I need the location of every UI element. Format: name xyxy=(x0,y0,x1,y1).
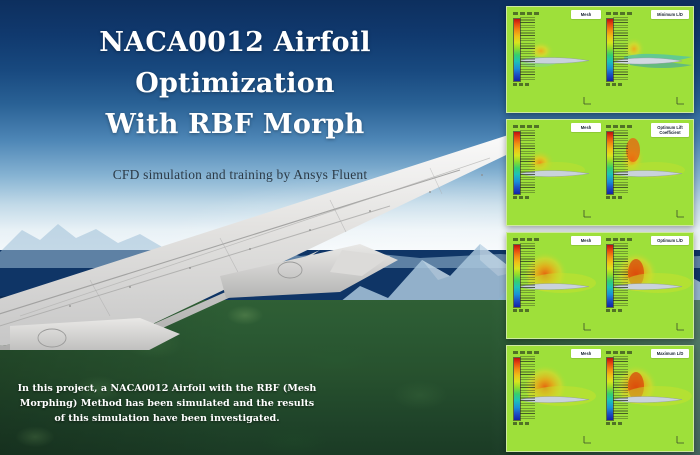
title-line-1: NACA0012 Airfoil xyxy=(0,22,470,63)
axes-triad-icon xyxy=(581,94,593,106)
colorbar-ticks xyxy=(613,356,628,420)
panel-title-line-1: Optimum Lift xyxy=(657,125,682,130)
panel-center-label: Mesh xyxy=(571,10,601,19)
colorbar-unit xyxy=(513,422,529,425)
description-caption: In this project, a NACA0012 Airfoil with… xyxy=(12,381,322,426)
panel-title-label: Minimum L/D xyxy=(651,10,689,19)
caption-line-1: In this project, a NACA0012 Airfoil with… xyxy=(12,381,322,396)
colorbar-title xyxy=(513,12,541,15)
panel-center-label: Mesh xyxy=(571,236,601,245)
colorbar-unit xyxy=(606,196,622,199)
axes-triad-icon xyxy=(674,433,686,445)
cfd-panel-2[interactable]: Mesh Optimum Lift Coefficient xyxy=(506,119,694,226)
cfd-plot-left xyxy=(507,233,600,338)
colorbar-unit xyxy=(513,309,529,312)
colorbar-ticks xyxy=(520,356,535,420)
colorbar-ticks xyxy=(613,130,628,194)
colorbar-title xyxy=(513,351,541,354)
cfd-plot-right xyxy=(600,233,693,338)
panel-title-line-1: Minimum L/D xyxy=(657,12,683,17)
cfd-panel-4[interactable]: Mesh Maximum L/D xyxy=(506,345,694,452)
caption-line-2: Morphing) Method has been simulated and … xyxy=(12,396,322,411)
colorbar-unit xyxy=(513,83,529,86)
colorbar-ticks xyxy=(613,17,628,81)
cfd-plot-left xyxy=(507,7,600,112)
caption-line-3: of this simulation have been investigate… xyxy=(12,411,322,426)
airplane-wing xyxy=(0,120,550,350)
panel-title-line-2: Coefficient xyxy=(653,130,687,135)
colorbar-title xyxy=(513,238,541,241)
colorbar-ticks xyxy=(520,130,535,194)
colorbar-title xyxy=(606,125,634,128)
panel-title-line-1: Maximum L/D xyxy=(657,351,684,356)
colorbar-ticks xyxy=(520,243,535,307)
poster-canvas: NACA0012 Airfoil Optimization With RBF M… xyxy=(0,0,700,455)
cfd-plot-right xyxy=(600,7,693,112)
colorbar-unit xyxy=(606,309,622,312)
title-line-3: With RBF Morph xyxy=(0,104,470,145)
panel-title-label: Optimum Lift Coefficient xyxy=(651,123,689,137)
axes-triad-icon xyxy=(674,207,686,219)
axes-triad-icon xyxy=(674,320,686,332)
cfd-plot-left xyxy=(507,120,600,225)
panel-title-label: Optimum L/D xyxy=(651,236,689,245)
axes-triad-icon xyxy=(581,433,593,445)
cfd-panel-3[interactable]: Mesh Optimum L/D xyxy=(506,232,694,339)
colorbar-unit xyxy=(606,422,622,425)
axes-triad-icon xyxy=(581,320,593,332)
colorbar-ticks xyxy=(520,17,535,81)
colorbar-title xyxy=(513,125,541,128)
panel-center-label: Mesh xyxy=(571,349,601,358)
page-title: NACA0012 Airfoil Optimization With RBF M… xyxy=(0,22,470,145)
title-line-2: Optimization xyxy=(0,63,470,104)
colorbar-unit xyxy=(513,196,529,199)
axes-triad-icon xyxy=(581,207,593,219)
colorbar-ticks xyxy=(613,243,628,307)
cfd-panel-1[interactable]: Mesh Minimum L/D xyxy=(506,6,694,113)
colorbar-unit xyxy=(606,83,622,86)
axes-triad-icon xyxy=(674,94,686,106)
subtitle: CFD simulation and training by Ansys Flu… xyxy=(0,167,480,183)
colorbar-title xyxy=(606,238,634,241)
cfd-plot-left xyxy=(507,346,600,451)
panel-center-label: Mesh xyxy=(571,123,601,132)
colorbar-title xyxy=(606,351,634,354)
cfd-plot-right xyxy=(600,346,693,451)
colorbar-title xyxy=(606,12,634,15)
panel-title-label: Maximum L/D xyxy=(651,349,689,358)
panel-title-line-1: Optimum L/D xyxy=(657,238,683,243)
